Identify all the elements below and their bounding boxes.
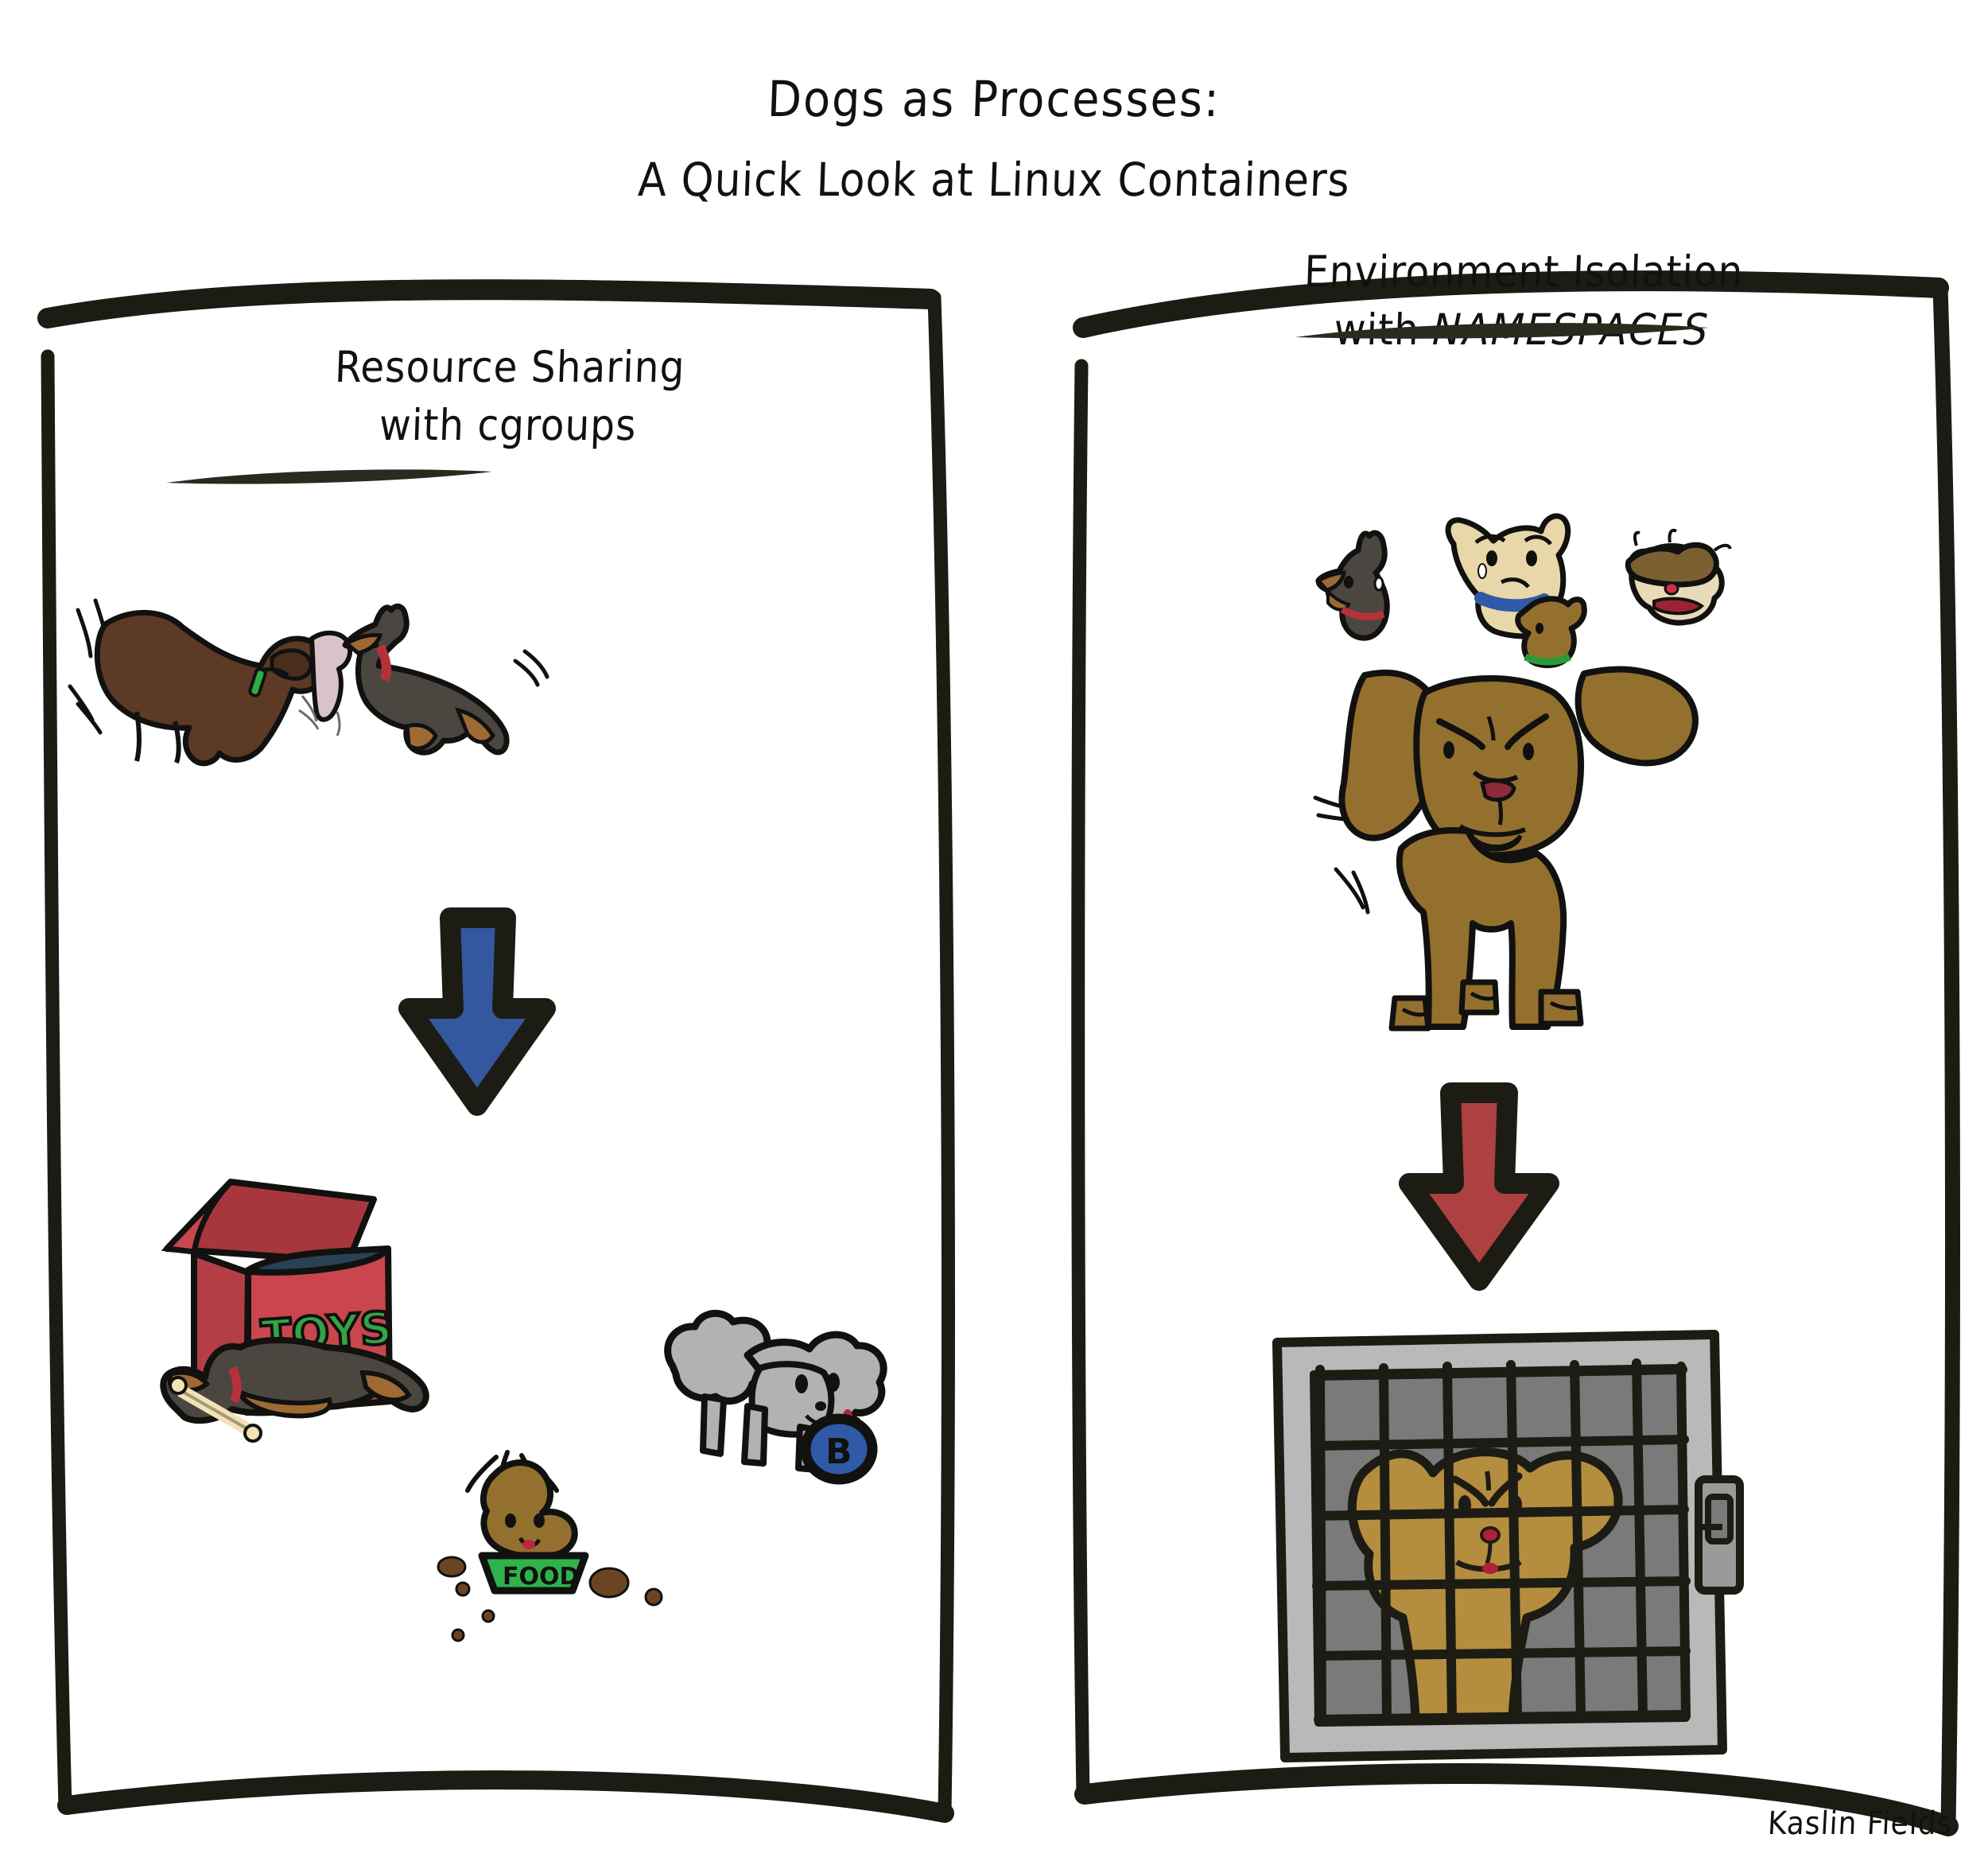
crate-latch[interactable] — [1699, 1479, 1740, 1591]
scene-dog-in-crate — [1256, 1328, 1749, 1774]
artist-signature: Kaslin Fields — [1766, 1805, 1953, 1842]
panel-heading-cgroups: Resource Sharing with cgroups — [14, 338, 1004, 455]
ball-toy: B — [806, 1419, 872, 1479]
heading-underline-left — [163, 465, 497, 489]
ball-label: B — [825, 1432, 852, 1472]
panel-heading-line1: Environment Isolation — [1066, 243, 1982, 301]
dog-doberman — [345, 606, 507, 752]
arrow-down-red — [1384, 1082, 1574, 1296]
comic-canvas: Dogs as Processes: A Quick Look at Linux… — [0, 0, 1988, 1869]
dog-head-small-tan — [1518, 599, 1585, 666]
dog-chocolate — [97, 612, 328, 763]
dog-head-pug — [1628, 530, 1730, 623]
arrow-down-blue — [390, 907, 565, 1121]
panel-heading-emphasis: cgroups — [476, 400, 637, 450]
panel-heading-line2: with cgroups — [14, 396, 1002, 454]
panel-heading-prefix: with — [379, 400, 479, 450]
scene-angry-dog — [1312, 664, 1773, 1046]
food-bowl-label: FOOD — [503, 1563, 579, 1591]
panel-heading-line1: Resource Sharing — [16, 338, 1004, 396]
scene-tug-of-war — [64, 593, 573, 767]
puppy-at-food-bowl: FOOD — [438, 1452, 662, 1641]
heading-underline-right — [1292, 318, 1714, 342]
motion-lines-right — [515, 651, 547, 685]
dog-head-doberman — [1318, 533, 1387, 638]
page-subtitle: A Quick Look at Linux Containers — [0, 153, 1988, 207]
scene-shared-resources: TOYS — [135, 1153, 930, 1678]
page-title: Dogs as Processes: — [0, 70, 1988, 128]
scene-dog-heads — [1296, 509, 1741, 684]
